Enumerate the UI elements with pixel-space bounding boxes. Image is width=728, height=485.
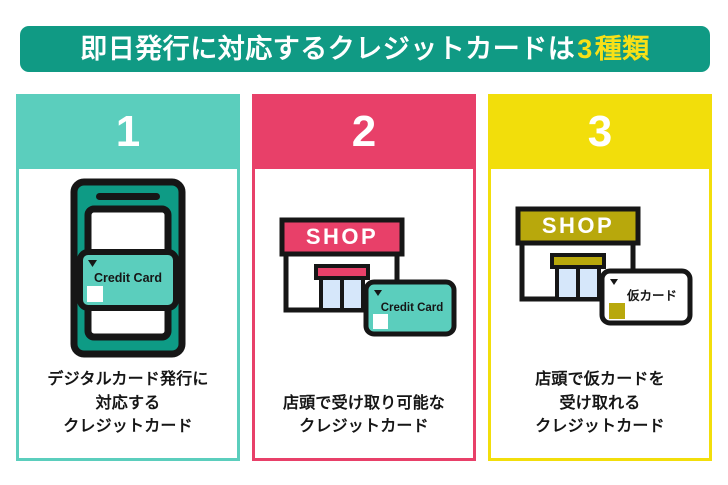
caption-line: クレジットカード <box>47 415 208 438</box>
step-card-3[interactable]: 3 SHOP 仮カード <box>488 94 712 461</box>
credit-card-label-1: Credit Card <box>94 271 162 285</box>
step-card-2-header: 2 <box>252 94 476 169</box>
step-number-3: 3 <box>588 110 612 154</box>
caption-line: 店頭で受け取り可能な <box>283 392 445 415</box>
step-caption-1: デジタルカード発行に 対応する クレジットカード <box>41 368 214 458</box>
caption-line: 対応する <box>47 392 208 415</box>
shop-credit-card-illustration: SHOP Credit Card <box>255 169 473 392</box>
header-banner: 即日発行に対応するクレジットカードは3種類 <box>20 26 710 72</box>
caption-line: 受け取れる <box>535 392 665 415</box>
step-card-1[interactable]: 1 Credit Card デジタルカード発行に 対応する <box>16 94 240 461</box>
steps-container: 1 Credit Card デジタルカード発行に 対応する <box>16 94 712 461</box>
shop-sign-text-2: SHOP <box>306 224 378 249</box>
credit-card-icon: Credit Card <box>366 282 454 334</box>
header-highlight-word: 種類 <box>595 34 650 64</box>
smartphone-credit-card-illustration: Credit Card <box>19 169 237 368</box>
step-card-3-header: 3 <box>488 94 712 169</box>
header-text-main: 即日発行に対応するクレジットカードは <box>80 34 575 64</box>
step-number-2: 2 <box>352 110 376 154</box>
step-card-1-body: Credit Card デジタルカード発行に 対応する クレジットカード <box>16 169 240 461</box>
shop-icon: SHOP 仮カード <box>502 199 698 339</box>
credit-card-icon: Credit Card <box>80 252 176 308</box>
shop-sign-text-3: SHOP <box>542 213 614 238</box>
credit-card-label-2: Credit Card <box>381 302 444 314</box>
shop-temporary-card-illustration: SHOP 仮カード <box>491 169 709 368</box>
shop-icon: SHOP Credit Card <box>266 210 462 350</box>
step-caption-2: 店頭で受け取り可能な クレジットカード <box>277 392 451 458</box>
caption-line: クレジットカード <box>535 415 665 438</box>
step-number-1: 1 <box>116 110 140 154</box>
caption-line: デジタルカード発行に <box>47 368 208 391</box>
step-card-2[interactable]: 2 SHOP <box>252 94 476 461</box>
temporary-card-icon: 仮カード <box>602 271 690 323</box>
caption-line: 店頭で仮カードを <box>535 368 665 391</box>
step-card-2-body: SHOP Credit Card 店頭で受け取り可能な クレジットカード <box>252 169 476 461</box>
step-card-3-body: SHOP 仮カード 店頭で仮カードを 受け取れる クレジットカード <box>488 169 712 461</box>
header-highlight-number: 3 <box>575 34 595 64</box>
page-title: 即日発行に対応するクレジットカードは3種類 <box>80 36 650 63</box>
temporary-card-label-3: 仮カード <box>626 288 677 303</box>
step-card-1-header: 1 <box>16 94 240 169</box>
step-caption-3: 店頭で仮カードを 受け取れる クレジットカード <box>529 368 671 458</box>
caption-line: クレジットカード <box>283 415 445 438</box>
smartphone-icon: Credit Card <box>48 176 208 361</box>
